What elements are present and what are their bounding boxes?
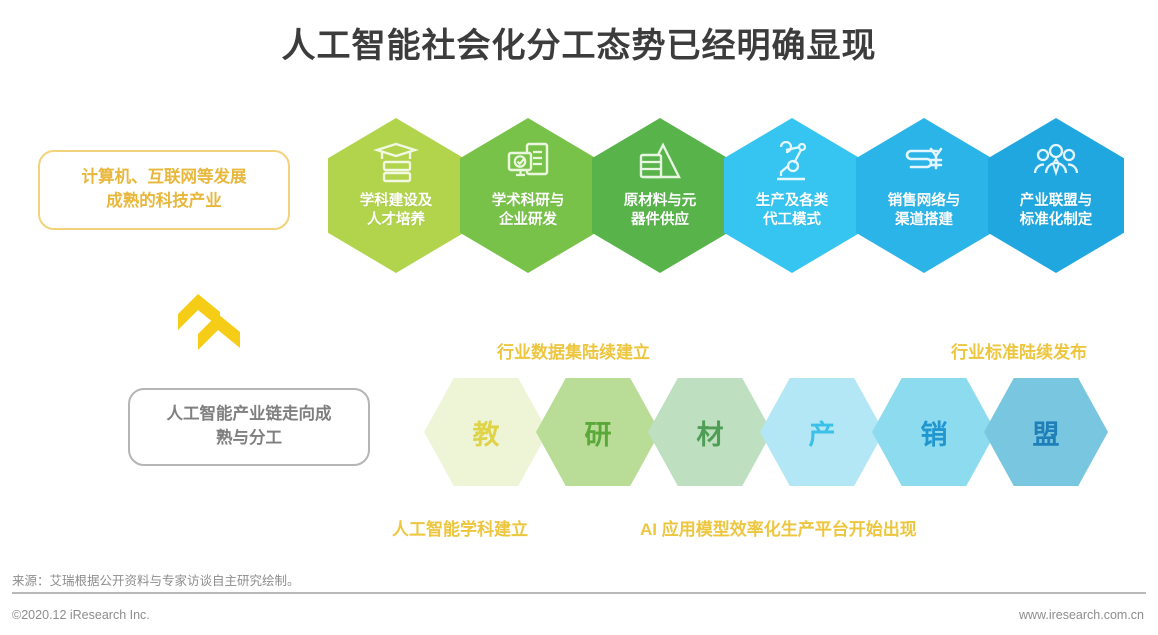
short-chain-item-jiao[interactable]: 教	[424, 378, 548, 486]
double-chevron-down-right-icon	[176, 288, 248, 362]
value-chain-stage-education[interactable]: 学科建设及 人才培养	[328, 118, 464, 273]
infographic-page: 人工智能社会化分工态势已经明确显现 计算机、互联网等发展 成熟的科技产业 人工智…	[0, 0, 1158, 635]
robot-arm-icon	[769, 140, 815, 186]
value-chain-stage-alliance-label: 产业联盟与 标准化制定	[1020, 192, 1093, 229]
value-chain-stage-production-label: 生产及各类 代工模式	[756, 192, 829, 229]
value-chain-stage-sales-label: 销售网络与 渠道搭建	[888, 192, 961, 229]
short-chain-item-cai[interactable]: 材	[648, 378, 772, 486]
money-yuan-icon	[901, 140, 947, 186]
callout-mature-tech-industry-label: 计算机、互联网等发展 成熟的科技产业	[82, 166, 247, 214]
value-chain-stage-production[interactable]: 生产及各类 代工模式	[724, 118, 860, 273]
value-chain-stage-alliance[interactable]: 产业联盟与 标准化制定	[988, 118, 1124, 273]
page-title: 人工智能社会化分工态势已经明确显现	[0, 18, 1158, 67]
footer-divider	[12, 592, 1146, 594]
short-chain-hex-row: 教 研 材 产 销 盟	[424, 378, 1104, 486]
callout-ai-chain-maturing: 人工智能产业链走向成 熟与分工	[128, 388, 370, 466]
annotation-platform: AI 应用模型效率化生产平台开始出现	[640, 515, 917, 540]
short-chain-item-xiao-label: 销	[921, 413, 948, 452]
value-chain-stage-research[interactable]: 学术科研与 企业研发	[460, 118, 596, 273]
people-group-icon	[1033, 140, 1079, 186]
value-chain-stage-research-label: 学术科研与 企业研发	[492, 192, 565, 229]
monitor-document-check-icon	[505, 140, 551, 186]
callout-mature-tech-industry: 计算机、互联网等发展 成熟的科技产业	[38, 150, 290, 230]
value-chain-stage-materials-label: 原材料与元 器件供应	[624, 192, 697, 229]
short-chain-item-cai-label: 材	[697, 413, 724, 452]
graduation-cap-books-icon	[373, 140, 419, 186]
annotation-standard: 行业标准陆续发布	[951, 338, 1087, 363]
value-chain-stage-education-label: 学科建设及 人才培养	[360, 192, 433, 229]
short-chain-item-yan-label: 研	[585, 413, 612, 452]
value-chain-stage-materials[interactable]: 原材料与元 器件供应	[592, 118, 728, 273]
copyright-text: ©2020.12 iResearch Inc.	[12, 608, 150, 622]
short-chain-item-jiao-label: 教	[473, 413, 500, 452]
annotation-dataset: 行业数据集陆续建立	[497, 338, 650, 363]
materials-stack-icon	[637, 140, 683, 186]
short-chain-item-meng-label: 盟	[1033, 413, 1060, 452]
website-link[interactable]: www.iresearch.com.cn	[1019, 608, 1144, 622]
source-note: 来源：艾瑞根据公开资料与专家访谈自主研究绘制。	[12, 570, 300, 589]
short-chain-item-chan-label: 产	[809, 413, 836, 452]
short-chain-item-yan[interactable]: 研	[536, 378, 660, 486]
short-chain-item-chan[interactable]: 产	[760, 378, 884, 486]
short-chain-item-xiao[interactable]: 销	[872, 378, 996, 486]
short-chain-item-meng[interactable]: 盟	[984, 378, 1108, 486]
value-chain-stage-sales[interactable]: 销售网络与 渠道搭建	[856, 118, 992, 273]
annotation-discipline: 人工智能学科建立	[392, 515, 528, 540]
callout-ai-chain-maturing-label: 人工智能产业链走向成 熟与分工	[167, 403, 332, 451]
value-chain-hex-row: 学科建设及 人才培养 学术科研与 企业研发	[328, 118, 1148, 273]
